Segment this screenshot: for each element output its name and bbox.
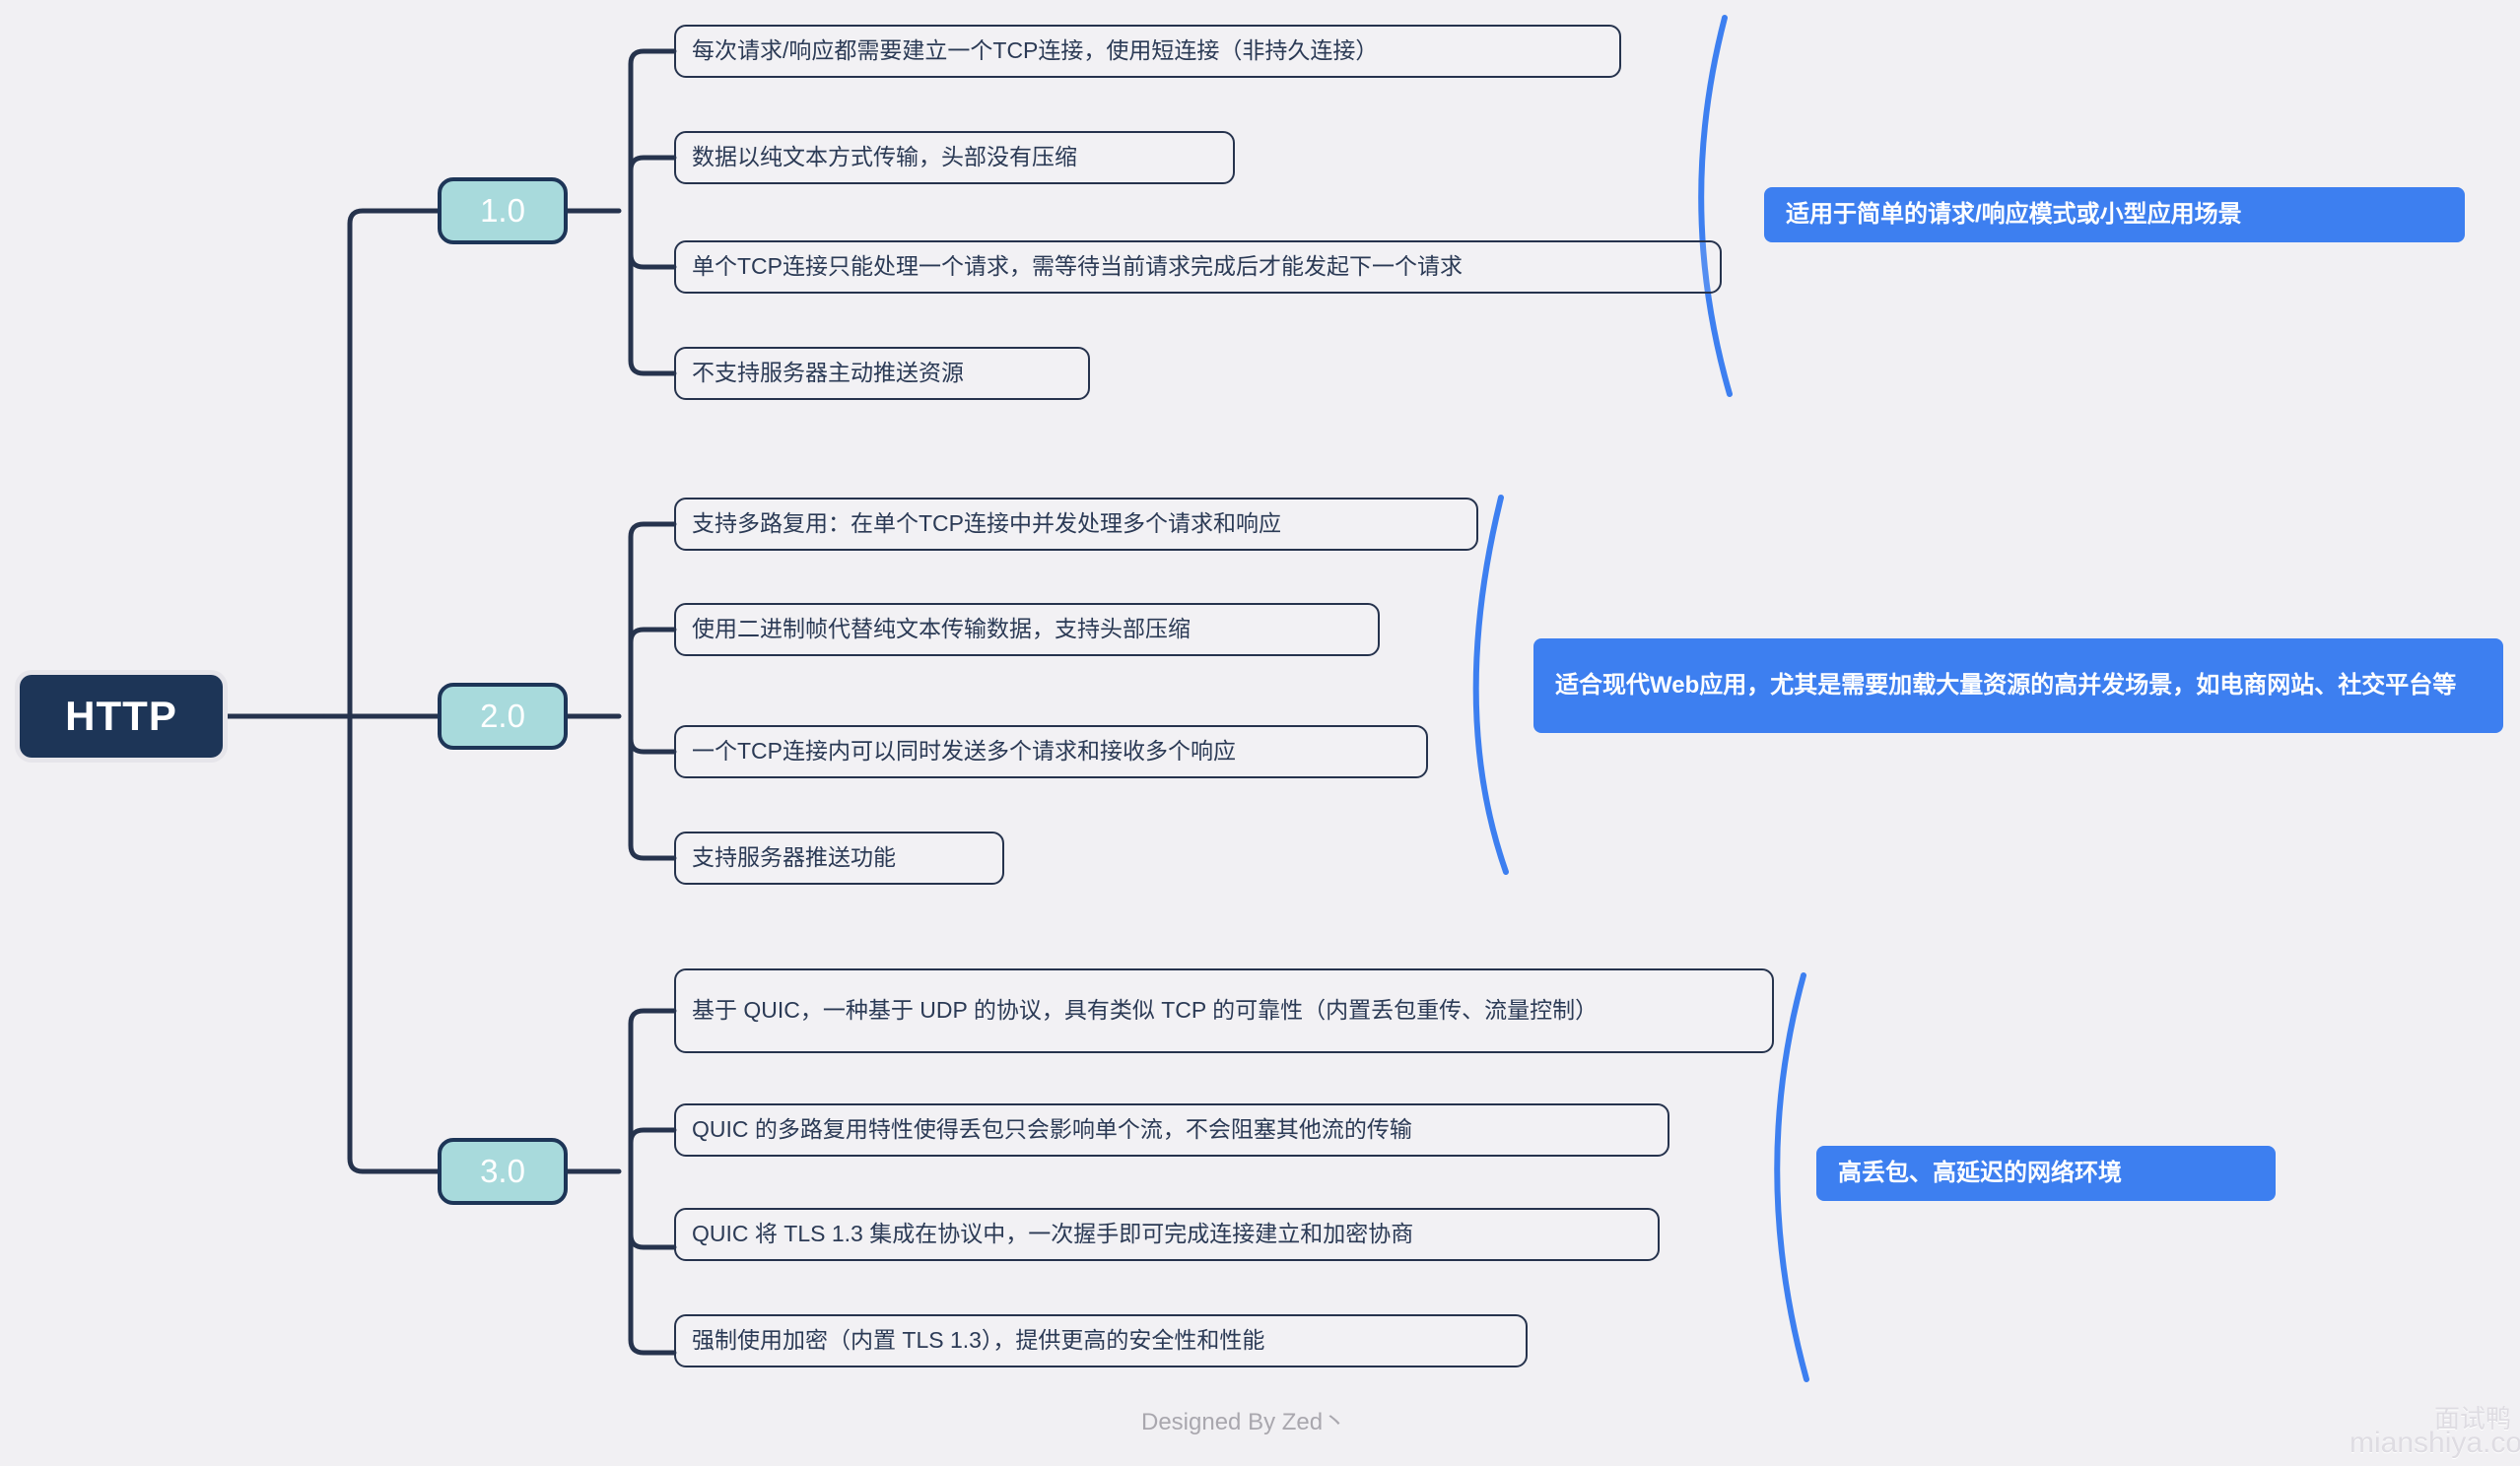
- leaf-node[interactable]: 基于 QUIC，一种基于 UDP 的协议，具有类似 TCP 的可靠性（内置丢包重…: [674, 968, 1774, 1053]
- summary-callout-1-0[interactable]: 适用于简单的请求/响应模式或小型应用场景: [1764, 187, 2465, 242]
- version-node-1-0[interactable]: 1.0: [438, 177, 568, 244]
- root-node-label: HTTP: [65, 693, 177, 740]
- mindmap-canvas: HTTP 1.0 2.0 3.0 每次请求/响应都需要建立一个TCP连接，使用短…: [0, 0, 2520, 1466]
- summary-callout-2-0[interactable]: 适合现代Web应用，尤其是需要加载大量资源的高并发场景，如电商网站、社交平台等: [1533, 638, 2503, 733]
- summary-callout-label: 适合现代Web应用，尤其是需要加载大量资源的高并发场景，如电商网站、社交平台等: [1555, 669, 2456, 703]
- link-v10-leaf2: [631, 158, 674, 211]
- link-v30-leaf1: [631, 1011, 674, 1171]
- link-v10-leaf4: [631, 211, 674, 373]
- leaf-node-label: QUIC 将 TLS 1.3 集成在协议中，一次握手即可完成连接建立和加密协商: [692, 1218, 1413, 1250]
- link-v10-leaf3: [631, 211, 674, 267]
- link-v30-leaf3: [631, 1171, 674, 1247]
- link-v30-leaf4: [631, 1171, 674, 1353]
- root-node[interactable]: HTTP: [20, 675, 223, 758]
- leaf-node-label: 数据以纯文本方式传输，头部没有压缩: [692, 141, 1077, 173]
- designer-credit: Designed By Zed丶: [1141, 1402, 1346, 1436]
- watermark-en: mianshiya.com: [2350, 1427, 2520, 1460]
- link-spine-v10: [350, 211, 438, 716]
- leaf-node[interactable]: 单个TCP连接只能处理一个请求，需等待当前请求完成后才能发起下一个请求: [674, 240, 1722, 294]
- brace-arc-v10: [1701, 18, 1730, 394]
- brace-arc-v20: [1476, 498, 1506, 872]
- leaf-node[interactable]: 强制使用加密（内置 TLS 1.3），提供更高的安全性和性能: [674, 1314, 1528, 1367]
- link-spine-v30: [350, 716, 438, 1171]
- link-v20-leaf1: [631, 524, 674, 716]
- leaf-node-label: 单个TCP连接只能处理一个请求，需等待当前请求完成后才能发起下一个请求: [692, 250, 1463, 283]
- leaf-node-label: 不支持服务器主动推送资源: [692, 357, 964, 389]
- leaf-node[interactable]: 数据以纯文本方式传输，头部没有压缩: [674, 131, 1235, 184]
- leaf-node-label: 支持多路复用：在单个TCP连接中并发处理多个请求和响应: [692, 507, 1281, 540]
- leaf-node[interactable]: QUIC 的多路复用特性使得丢包只会影响单个流，不会阻塞其他流的传输: [674, 1103, 1669, 1157]
- version-node-2-0[interactable]: 2.0: [438, 683, 568, 750]
- link-v20-leaf2: [631, 630, 674, 716]
- leaf-node-label: 一个TCP连接内可以同时发送多个请求和接收多个响应: [692, 735, 1236, 767]
- leaf-node[interactable]: 支持多路复用：在单个TCP连接中并发处理多个请求和响应: [674, 498, 1478, 551]
- version-node-label: 3.0: [480, 1153, 525, 1190]
- leaf-node-label: 每次请求/响应都需要建立一个TCP连接，使用短连接（非持久连接）: [692, 34, 1378, 67]
- link-v10-leaf1: [631, 51, 674, 211]
- summary-callout-3-0[interactable]: 高丢包、高延迟的网络环境: [1816, 1146, 2276, 1201]
- link-v20-leaf3: [631, 716, 674, 752]
- link-v20-leaf4: [631, 716, 674, 858]
- link-v30-leaf2: [631, 1130, 674, 1171]
- leaf-node[interactable]: 一个TCP连接内可以同时发送多个请求和接收多个响应: [674, 725, 1428, 778]
- summary-callout-label: 适用于简单的请求/响应模式或小型应用场景: [1786, 198, 2242, 233]
- leaf-node[interactable]: 使用二进制帧代替纯文本传输数据，支持头部压缩: [674, 603, 1380, 656]
- brace-arc-v30: [1777, 975, 1806, 1379]
- summary-callout-label: 高丢包、高延迟的网络环境: [1838, 1157, 2122, 1191]
- leaf-node-label: 支持服务器推送功能: [692, 841, 896, 874]
- leaf-node[interactable]: 支持服务器推送功能: [674, 832, 1004, 885]
- version-node-3-0[interactable]: 3.0: [438, 1138, 568, 1205]
- leaf-node-label: 使用二进制帧代替纯文本传输数据，支持头部压缩: [692, 613, 1191, 645]
- leaf-node-label: QUIC 的多路复用特性使得丢包只会影响单个流，不会阻塞其他流的传输: [692, 1113, 1412, 1146]
- leaf-node[interactable]: QUIC 将 TLS 1.3 集成在协议中，一次握手即可完成连接建立和加密协商: [674, 1208, 1660, 1261]
- version-node-label: 1.0: [480, 192, 525, 230]
- leaf-node-label: 强制使用加密（内置 TLS 1.3），提供更高的安全性和性能: [692, 1324, 1264, 1357]
- leaf-node-label: 基于 QUIC，一种基于 UDP 的协议，具有类似 TCP 的可靠性（内置丢包重…: [692, 994, 1598, 1027]
- leaf-node[interactable]: 每次请求/响应都需要建立一个TCP连接，使用短连接（非持久连接）: [674, 25, 1621, 78]
- version-node-label: 2.0: [480, 698, 525, 735]
- leaf-node[interactable]: 不支持服务器主动推送资源: [674, 347, 1090, 400]
